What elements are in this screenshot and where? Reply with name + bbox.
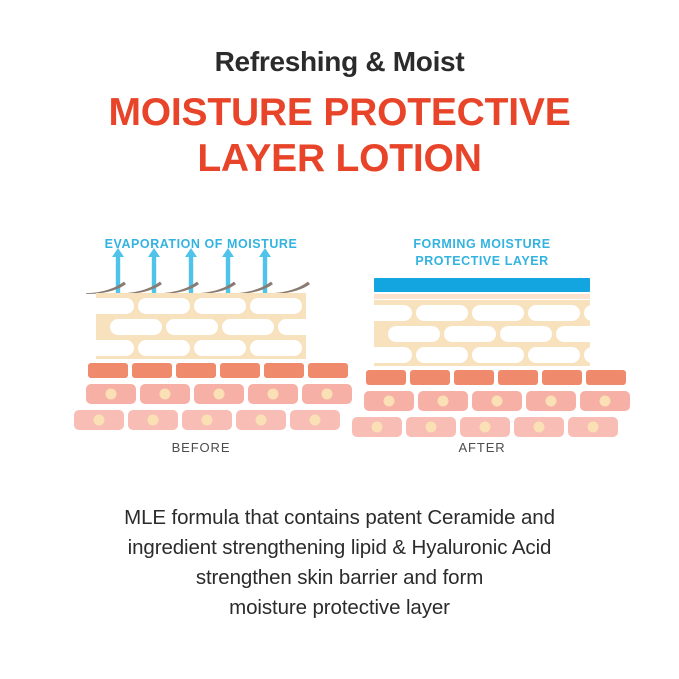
cell-nucleus <box>480 422 491 433</box>
skin-cell <box>302 384 352 404</box>
granular-cell <box>264 363 304 378</box>
after-skin-stack <box>374 274 590 426</box>
after-caption-line-1: FORMING MOISTURE <box>413 237 550 251</box>
skin-cell <box>418 391 468 411</box>
lipid-brick <box>166 319 218 335</box>
granular-layer <box>96 363 306 378</box>
cell-nucleus <box>322 389 333 400</box>
cell-nucleus <box>214 389 225 400</box>
lipid-brick <box>416 305 468 321</box>
granular-cell <box>454 370 494 385</box>
lipid-brick <box>556 326 608 342</box>
cell-nucleus <box>268 389 279 400</box>
description-line-1: MLE formula that contains patent Ceramid… <box>0 503 679 533</box>
basal-layer <box>374 417 590 437</box>
lipid-brick <box>194 298 246 314</box>
lipid-brick <box>306 298 358 314</box>
granular-cell <box>410 370 450 385</box>
cell-nucleus <box>426 422 437 433</box>
skin-cell <box>364 391 414 411</box>
skin-cell <box>182 410 232 430</box>
lipid-brick <box>278 319 330 335</box>
cell-nucleus <box>310 415 321 426</box>
cell-nucleus <box>438 396 449 407</box>
lipid-brick <box>584 305 636 321</box>
lipid-brick <box>138 340 190 356</box>
lipid-brick <box>110 319 162 335</box>
skin-cell <box>568 417 618 437</box>
granular-cell <box>542 370 582 385</box>
after-caption-line-2: PROTECTIVE LAYER <box>415 254 548 268</box>
cell-nucleus <box>534 422 545 433</box>
cell-nucleus <box>492 396 503 407</box>
lipid-brick <box>250 340 302 356</box>
before-caption: EVAPORATION OF MOISTURE <box>96 236 306 253</box>
cell-nucleus <box>546 396 557 407</box>
skin-flakes <box>96 274 306 294</box>
spinous-layer <box>374 391 590 411</box>
cell-nucleus <box>160 389 171 400</box>
cell-nucleus <box>202 415 213 426</box>
cell-nucleus <box>372 422 383 433</box>
spinous-layer <box>96 384 306 404</box>
cell-nucleus <box>106 389 117 400</box>
lipid-brick <box>82 340 134 356</box>
skin-cell <box>526 391 576 411</box>
promo-page: Refreshing & Moist MOISTURE PROTECTIVE L… <box>0 0 679 679</box>
lipid-brick <box>194 340 246 356</box>
skin-cell <box>406 417 456 437</box>
after-panel: FORMING MOISTURE PROTECTIVE LAYER <box>374 228 590 468</box>
lipid-brick <box>472 305 524 321</box>
skin-cell <box>140 384 190 404</box>
granular-cell <box>220 363 260 378</box>
lipid-brick <box>500 326 552 342</box>
skin-diagram-area: EVAPORATION OF MOISTURE <box>0 228 679 468</box>
granular-cell <box>586 370 626 385</box>
lipid-brick <box>138 298 190 314</box>
granular-cell <box>132 363 172 378</box>
skin-cell <box>580 391 630 411</box>
lipid-brick <box>82 298 134 314</box>
skin-cell <box>236 410 286 430</box>
lipid-brick <box>444 326 496 342</box>
skin-cell <box>472 391 522 411</box>
page-title: MOISTURE PROTECTIVE LAYER LOTION <box>0 90 679 182</box>
skin-surface-strip <box>374 294 590 299</box>
skin-cell <box>86 384 136 404</box>
stratum-corneum-layer <box>374 300 590 366</box>
eyebrow-text: Refreshing & Moist <box>0 46 679 78</box>
description-line-4: moisture protective layer <box>0 593 679 623</box>
description-line-3: strengthen skin barrier and form <box>0 563 679 593</box>
granular-cell <box>308 363 348 378</box>
lipid-brick <box>528 347 580 363</box>
moisture-protective-layer <box>374 278 590 292</box>
title-line-1: MOISTURE PROTECTIVE <box>108 91 570 134</box>
lipid-brick <box>584 347 636 363</box>
before-label: BEFORE <box>96 440 306 455</box>
basal-layer <box>96 410 306 430</box>
skin-cell <box>248 384 298 404</box>
skin-cell <box>352 417 402 437</box>
header-block: Refreshing & Moist MOISTURE PROTECTIVE L… <box>0 46 679 182</box>
lipid-brick <box>306 340 358 356</box>
lipid-brick <box>360 305 412 321</box>
cell-nucleus <box>94 415 105 426</box>
granular-cell <box>88 363 128 378</box>
cell-nucleus <box>384 396 395 407</box>
granular-layer <box>374 370 590 385</box>
lipid-brick <box>416 347 468 363</box>
stratum-corneum-layer <box>96 293 306 359</box>
before-panel: EVAPORATION OF MOISTURE <box>96 228 306 468</box>
lipid-brick <box>222 319 274 335</box>
skin-cell <box>128 410 178 430</box>
skin-cell <box>514 417 564 437</box>
description-text: MLE formula that contains patent Ceramid… <box>0 503 679 623</box>
skin-cell <box>460 417 510 437</box>
skin-cell <box>74 410 124 430</box>
granular-cell <box>498 370 538 385</box>
lipid-brick <box>472 347 524 363</box>
skin-cell <box>194 384 244 404</box>
lipid-brick <box>528 305 580 321</box>
cell-nucleus <box>600 396 611 407</box>
cell-nucleus <box>588 422 599 433</box>
description-line-2: ingredient strengthening lipid & Hyaluro… <box>0 533 679 563</box>
granular-cell <box>366 370 406 385</box>
lipid-brick <box>250 298 302 314</box>
cell-nucleus <box>148 415 159 426</box>
before-skin-stack <box>96 274 306 426</box>
granular-cell <box>176 363 216 378</box>
lipid-brick <box>360 347 412 363</box>
lipid-brick <box>388 326 440 342</box>
after-label: AFTER <box>374 440 590 455</box>
cell-nucleus <box>256 415 267 426</box>
after-caption: FORMING MOISTURE PROTECTIVE LAYER <box>374 236 590 270</box>
skin-cell <box>290 410 340 430</box>
title-line-2: LAYER LOTION <box>197 137 481 180</box>
